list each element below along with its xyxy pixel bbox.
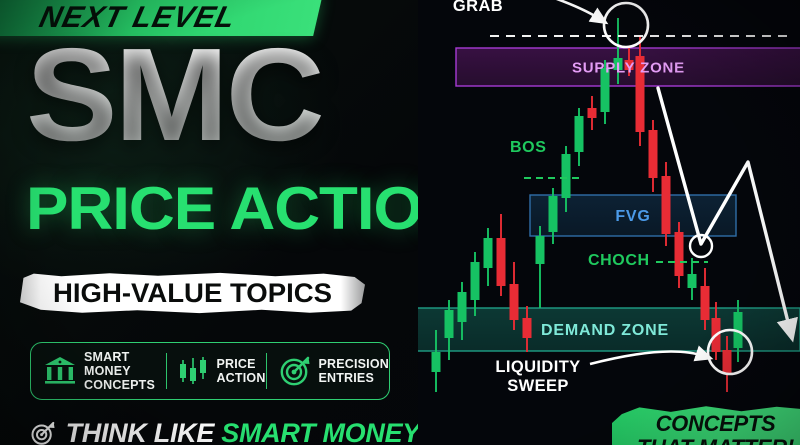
candle-body	[510, 284, 519, 320]
poster-root: NEXT LEVEL SMC PRICE ACTION HIGH-VALUE T…	[0, 0, 800, 445]
concepts-that-matter-label: CONCEPTS THAT MATTER!	[628, 412, 800, 445]
chart-svg: BOSCHOCH LIQUIDITYGRABLIQUIDITYSWEEP SUP…	[418, 0, 800, 445]
candle-body	[575, 116, 584, 152]
feature-smart-money-concepts[interactable]: SMART MONEY CONCEPTS	[31, 350, 166, 392]
feature-divider	[266, 353, 268, 389]
candle-body	[536, 236, 545, 264]
structure-label-choch: CHOCH	[588, 252, 650, 269]
candlestick-chart-panel: BOSCHOCH LIQUIDITYGRABLIQUIDITYSWEEP SUP…	[418, 0, 800, 445]
feature-pill-row: SMART MONEY CONCEPTS PRICE ACTION	[30, 342, 390, 400]
candle-body	[662, 176, 671, 234]
candle-body	[458, 292, 467, 322]
candle-body	[523, 318, 532, 338]
candle-body	[484, 238, 493, 268]
subheadline-price-action: PRICE ACTION	[26, 178, 467, 240]
bank-icon	[43, 355, 77, 387]
zone-label-fvg: FVG	[615, 208, 650, 225]
zone-label-supply: SUPPLY ZONE	[572, 60, 685, 77]
liquidity-sweep-label: LIQUIDITYSWEEP	[495, 358, 580, 395]
think-like-smart-money-row: THINK LIKE SMART MONEY	[30, 416, 420, 445]
structure-label-bos: BOS	[510, 139, 546, 156]
think-like-accent: SMART MONEY	[221, 418, 420, 445]
candle-body	[497, 238, 506, 286]
candle-body	[549, 196, 558, 232]
candle-body	[723, 350, 732, 374]
feature-label: SMART MONEY CONCEPTS	[84, 350, 166, 392]
think-like-prefix: THINK LIKE	[66, 418, 222, 445]
feature-price-action[interactable]: PRICE ACTION	[167, 355, 265, 387]
think-like-text: THINK LIKE SMART MONEY	[66, 418, 420, 445]
feature-precision-entries[interactable]: PRECISION ENTRIES	[267, 355, 389, 387]
target-arrow-icon	[279, 355, 311, 387]
feature-divider	[166, 353, 168, 389]
candle-body	[688, 274, 697, 288]
candle-body	[588, 108, 597, 118]
target-arrow-icon	[30, 419, 57, 445]
candle-body	[649, 130, 658, 178]
candle-body	[675, 232, 684, 276]
high-value-topics-label: HIGH-VALUE TOPICS	[17, 272, 369, 314]
left-content-panel: NEXT LEVEL SMC PRICE ACTION HIGH-VALUE T…	[0, 0, 425, 445]
candle-body	[562, 154, 571, 198]
high-value-topics-brush: HIGH-VALUE TOPICS	[20, 272, 365, 314]
feature-label: PRICE ACTION	[216, 357, 265, 385]
zone-label-demand: DEMAND ZONE	[541, 322, 669, 339]
headline-smc: SMC	[26, 40, 322, 150]
candle-body	[701, 286, 710, 320]
candlestick-icon	[179, 355, 209, 387]
candle-body	[432, 352, 441, 372]
feature-label: PRECISION ENTRIES	[318, 357, 389, 385]
candle-body	[471, 262, 480, 300]
candle-body	[445, 310, 454, 338]
